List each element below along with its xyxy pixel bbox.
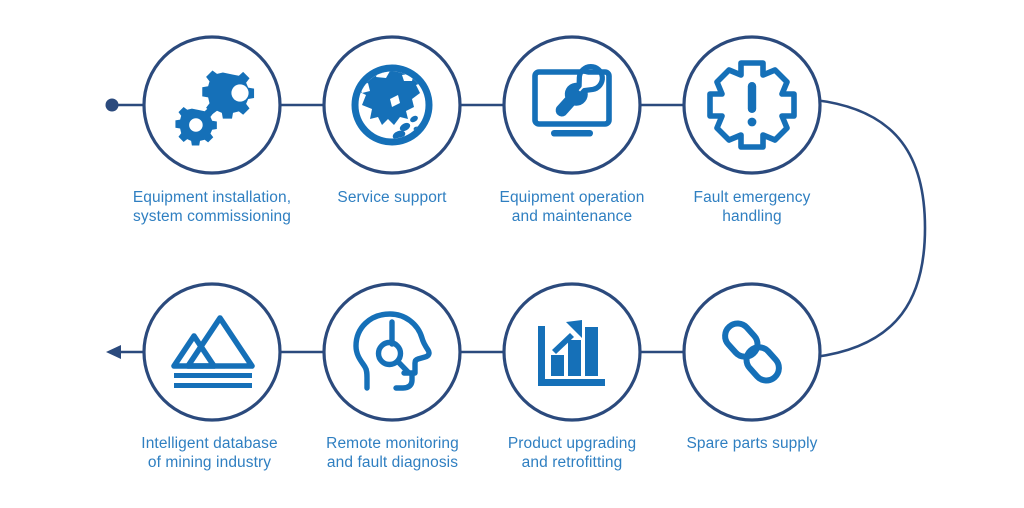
node-label-1: Equipment installation, system commissio… [102,188,322,226]
node-label-8: Intelligent database of mining industry [112,434,307,472]
node-label-6: Product upgrading and retrofitting [477,434,667,472]
node-label-4: Fault emergency handling [662,188,842,226]
node-label-5: Spare parts supply [662,434,842,453]
node-label-3: Equipment operation and maintenance [467,188,677,226]
connector-wrap-curve [815,100,925,357]
node-circle-8[interactable] [144,284,280,420]
node-circle-7[interactable] [324,284,460,420]
process-flow-diagram: Equipment installation, system commissio… [0,0,1024,508]
end-arrow-head [106,345,121,359]
node-label-7: Remote monitoring and fault diagnosis [295,434,490,472]
node-label-2: Service support [292,188,492,207]
start-dot [106,99,119,112]
flow-graphics [0,0,1024,508]
